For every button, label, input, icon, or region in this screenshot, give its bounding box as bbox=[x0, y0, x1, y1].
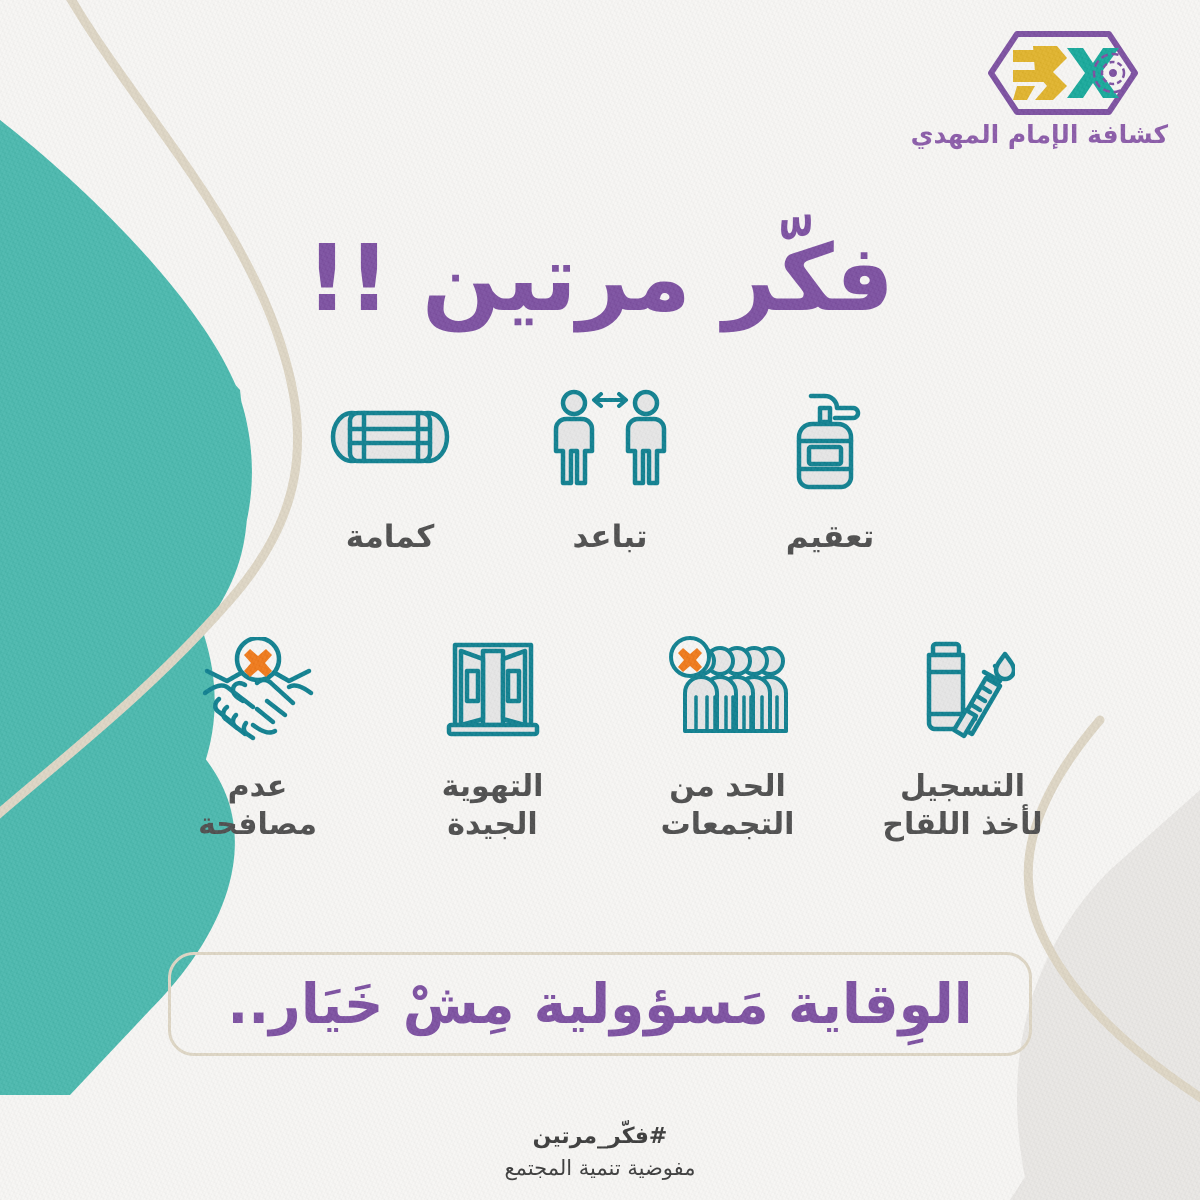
measure-label: تباعد bbox=[572, 518, 647, 558]
organization-name: مفوضية تنمية المجتمع bbox=[0, 1153, 1200, 1185]
icon-container bbox=[666, 630, 790, 748]
measure-label: عدم مصافحة bbox=[198, 768, 317, 845]
face-mask-icon bbox=[328, 397, 452, 481]
open-window-ventilation-icon bbox=[441, 637, 545, 741]
poster-canvas: كشافة الإمام المهدي فكّر مرتين !! تعقيم bbox=[0, 0, 1200, 1200]
brand-logo: كشافة الإمام المهدي bbox=[958, 30, 1168, 149]
measure-label: التهوية الجيدة bbox=[442, 768, 544, 845]
slogan-text: الوِقاية مَسؤولية مِشْ خَيَار.. bbox=[227, 977, 972, 1032]
measure-item-no-handshake: عدم مصافحة bbox=[140, 630, 375, 845]
measures-row-two: التسجيل لأخذ اللقاح bbox=[140, 630, 1080, 845]
page-title: فكّر مرتين !! bbox=[0, 228, 1200, 329]
icon-container bbox=[787, 380, 873, 498]
icon-container bbox=[197, 630, 319, 748]
social-distancing-icon bbox=[550, 387, 670, 491]
scout-emblem-icon bbox=[987, 30, 1139, 116]
icon-container bbox=[550, 380, 670, 498]
measure-item-ventilation: التهوية الجيدة bbox=[375, 630, 610, 845]
measure-item-mask: كمامة bbox=[280, 380, 500, 558]
hashtag: #فكّر_مرتين bbox=[0, 1120, 1200, 1153]
hand-sanitizer-bottle-icon bbox=[787, 384, 873, 494]
measures-row-one: تعقيم تباعد bbox=[280, 380, 940, 558]
logo-wordmark: كشافة الإمام المهدي bbox=[958, 120, 1168, 149]
icon-container bbox=[328, 380, 452, 498]
measure-label: الحد من التجمعات bbox=[661, 768, 795, 845]
slogan-banner: الوِقاية مَسؤولية مِشْ خَيَار.. bbox=[168, 952, 1032, 1056]
measure-item-sanitizing: تعقيم bbox=[720, 380, 940, 558]
measure-item-distancing: تباعد bbox=[500, 380, 720, 558]
icon-container bbox=[911, 630, 1015, 748]
measure-label: كمامة bbox=[346, 518, 434, 558]
measure-item-vaccine-registration: التسجيل لأخذ اللقاح bbox=[845, 630, 1080, 845]
no-crowd-gathering-icon bbox=[666, 635, 790, 743]
icon-container bbox=[441, 630, 545, 748]
vaccine-vial-syringe-icon bbox=[911, 636, 1015, 742]
measure-label: التسجيل لأخذ اللقاح bbox=[882, 768, 1042, 845]
measure-item-limit-gatherings: الحد من التجمعات bbox=[610, 630, 845, 845]
measure-label: تعقيم bbox=[786, 518, 874, 558]
footer: #فكّر_مرتين مفوضية تنمية المجتمع bbox=[0, 1120, 1200, 1185]
no-handshake-icon bbox=[197, 637, 319, 741]
